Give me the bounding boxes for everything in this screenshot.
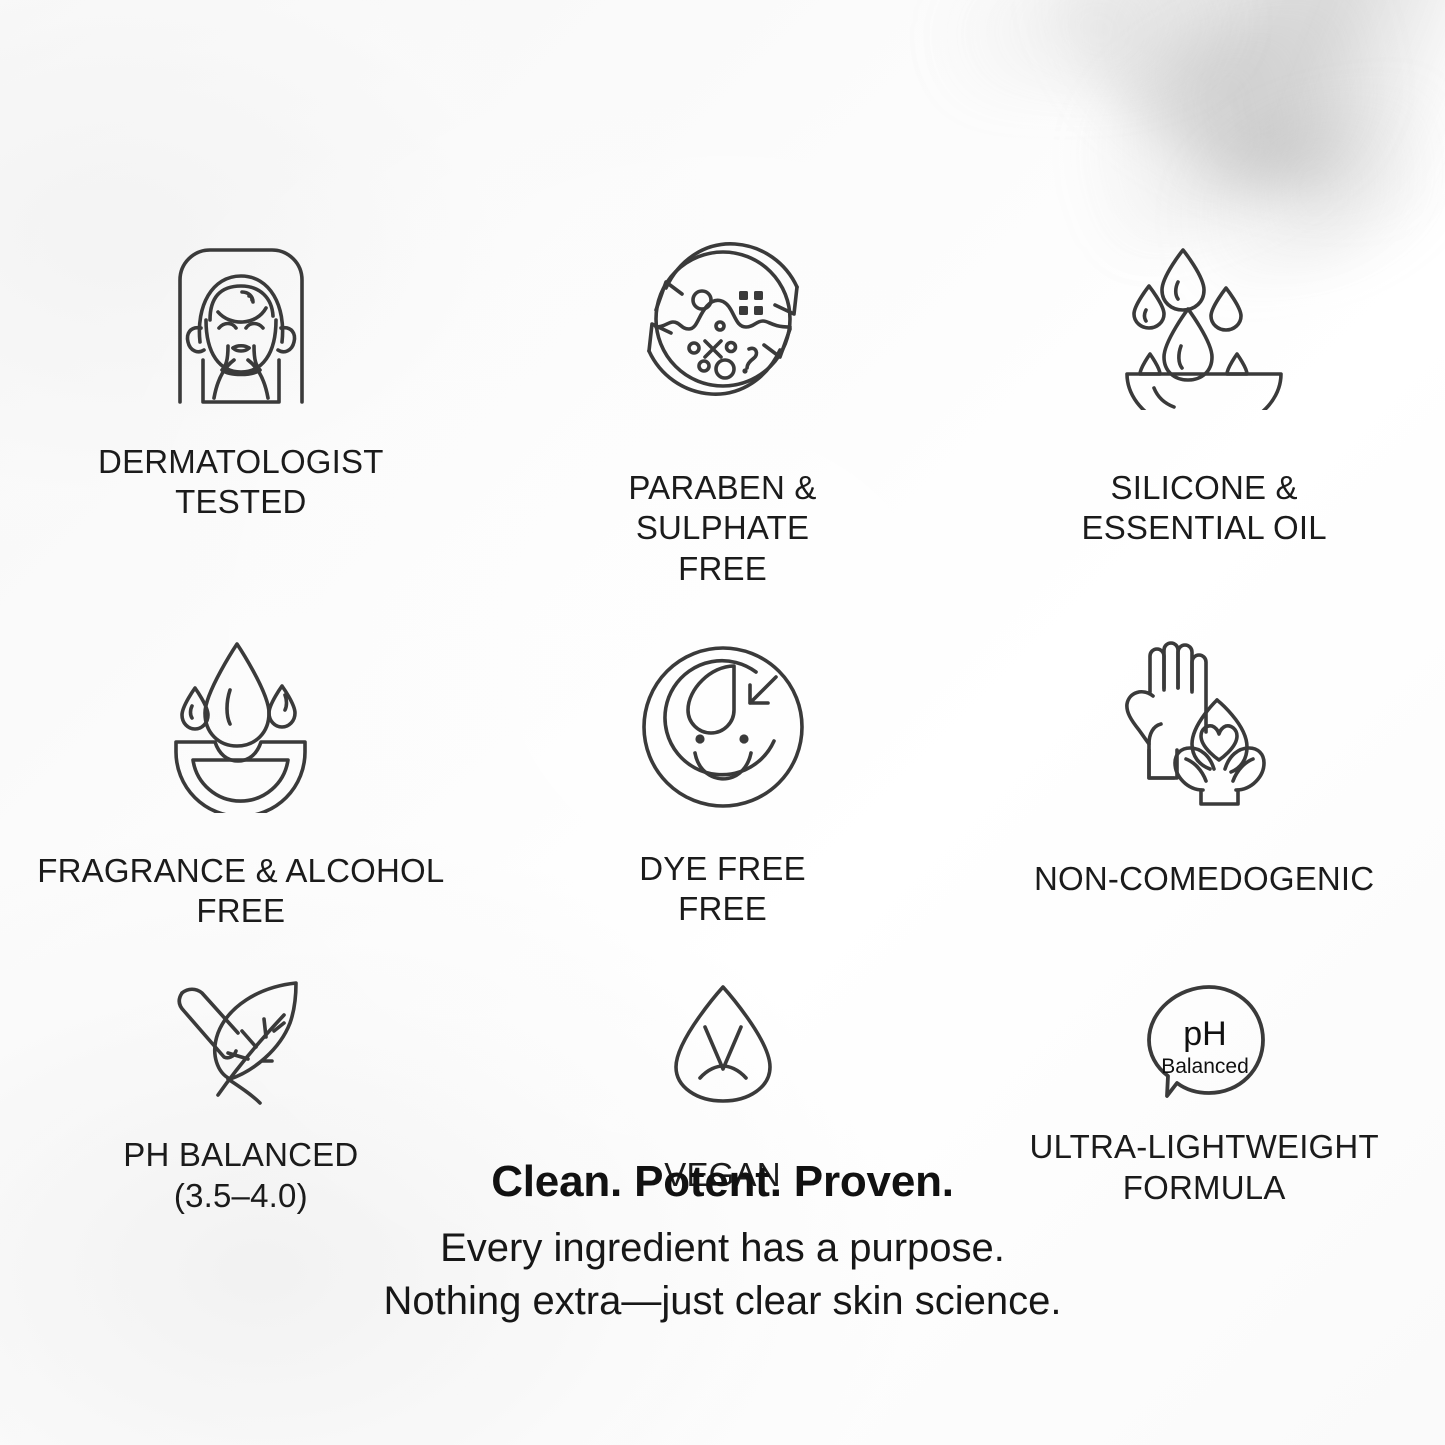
badge-label: DYE FREE FREE [639, 849, 806, 930]
badge-dye-free: DYE FREE FREE [482, 635, 964, 932]
ph-bubble-line1: pH [1183, 1015, 1226, 1053]
dye-free-smiley-icon [637, 635, 809, 813]
footer-subtext: Every ingredient has a purpose. Nothing … [0, 1222, 1445, 1328]
footer-headline: Clean. Potent. Proven. [0, 1158, 1445, 1206]
footer-tagline-block: Clean. Potent. Proven. Every ingredient … [0, 1158, 1445, 1328]
ph-balanced-leaf-icon [162, 975, 320, 1105]
badge-row: FRAGRANCE & ALCOHOL FREE [0, 635, 1445, 932]
ph-balanced-bubble-icon: pH Balanced [1141, 975, 1267, 1105]
badge-row: DERMATOLOGIST TESTED [0, 232, 1445, 589]
badge-fragrance-alcohol-free: FRAGRANCE & ALCOHOL FREE [0, 635, 482, 932]
badge-label: SILICONE & ESSENTIAL OIL [1082, 468, 1327, 549]
footer-subtext-line-1: Every ingredient has a purpose. [0, 1222, 1445, 1275]
non-comedogenic-hands-heart-icon [1117, 635, 1292, 813]
benefit-badge-grid: DERMATOLOGIST TESTED [0, 0, 1445, 1216]
badge-label: FRAGRANCE & ALCOHOL FREE [37, 851, 444, 932]
dermatologist-face-icon [156, 232, 326, 410]
badge-label: DERMATOLOGIST TESTED [98, 442, 384, 523]
badge-label: NON-COMEDOGENIC [1034, 859, 1374, 899]
marketing-benefits-panel: DERMATOLOGIST TESTED [0, 0, 1445, 1445]
vegan-drop-icon [667, 975, 779, 1105]
ph-bubble-line2: Balanced [1161, 1055, 1249, 1078]
badge-silicone-essential-oil: SILICONE & ESSENTIAL OIL [963, 232, 1445, 589]
paraben-sulphate-free-icon [632, 232, 814, 410]
fragrance-alcohol-free-drop-bowl-icon [157, 635, 325, 813]
silicone-essential-oil-drops-icon [1120, 232, 1288, 410]
badge-paraben-sulphate-free: PARABEN & SULPHATE FREE [482, 232, 964, 589]
footer-subtext-line-2: Nothing extra—just clear skin science. [0, 1275, 1445, 1328]
badge-label: PARABEN & SULPHATE FREE [628, 468, 816, 589]
badge-dermatologist-tested: DERMATOLOGIST TESTED [0, 232, 482, 589]
badge-non-comedogenic: NON-COMEDOGENIC [963, 635, 1445, 932]
